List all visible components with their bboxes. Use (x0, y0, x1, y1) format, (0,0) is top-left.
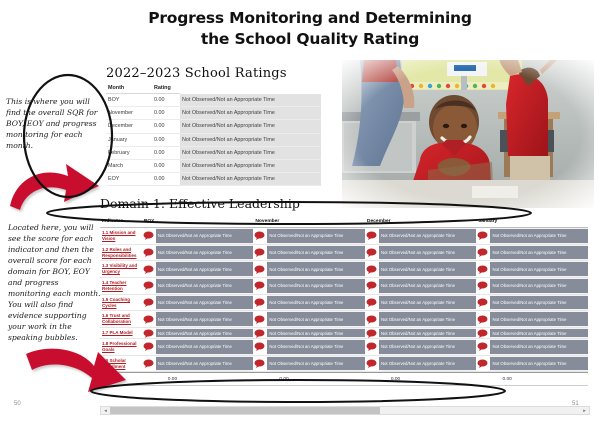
status-badge: Not Observed/Not an Appropriate Time (490, 245, 588, 261)
grid-header-period: November (253, 219, 365, 224)
title-line-1: Progress Monitoring and Determining (148, 9, 472, 27)
indicator-period-cell: Not Observed/Not an Appropriate Time (476, 278, 588, 294)
scroll-left-arrow-icon[interactable]: ◂ (101, 407, 110, 414)
speech-bubble-icon[interactable] (477, 265, 489, 274)
status-badge: Not Observed/Not an Appropriate Time (490, 295, 588, 311)
classroom-photo (342, 60, 594, 208)
page-number-left: 50 (14, 401, 21, 407)
status-badge-label: Not Observed/Not an Appropriate Time (158, 283, 232, 288)
status-badge-label: Not Observed/Not an Appropriate Time (381, 233, 455, 238)
indicator-link[interactable]: 1.7 PLA Model (100, 328, 142, 338)
table-row: December0.00Not Observed/Not an Appropri… (106, 120, 321, 133)
status-badge: Not Observed/Not an Appropriate Time (379, 311, 477, 327)
table-row: 1.9 Scholar EnrollmentNot Observed/Not a… (100, 356, 588, 373)
status-badge-label: Not Observed/Not an Appropriate Time (381, 344, 455, 349)
indicator-period-cell: Not Observed/Not an Appropriate Time (476, 339, 588, 355)
indicator-period-cell: Not Observed/Not an Appropriate Time (365, 311, 477, 327)
speech-bubble-icon[interactable] (143, 329, 155, 338)
status-badge: Not Observed/Not an Appropriate Time (267, 356, 365, 372)
speech-bubble-icon[interactable] (477, 315, 489, 324)
indicator-period-cell: Not Observed/Not an Appropriate Time (476, 356, 588, 372)
indicator-period-cell: Not Observed/Not an Appropriate Time (365, 278, 477, 294)
speech-bubble-icon[interactable] (366, 315, 378, 324)
indicator-period-cell: Not Observed/Not an Appropriate Time (142, 328, 254, 338)
indicator-period-cell: Not Observed/Not an Appropriate Time (142, 295, 254, 311)
indicator-link[interactable]: 1.2 Roles and Responsibilities (100, 245, 142, 261)
status-badge: Not Observed/Not an Appropriate Time (490, 356, 588, 372)
speech-bubble-icon[interactable] (143, 342, 155, 351)
table-row: 1.6 Trust and CollaborationNot Observed/… (100, 311, 588, 328)
ratings-cell-rating: 0.00 (152, 120, 180, 133)
status-badge: Not Observed/Not an Appropriate Time (267, 339, 365, 355)
table-row: 1.5 Coaching CyclesNot Observed/Not an A… (100, 295, 588, 312)
status-badge: Not Observed/Not an Appropriate Time (156, 228, 254, 244)
status-badge: Not Observed/Not an Appropriate Time (490, 328, 588, 338)
speech-bubble-icon[interactable] (254, 329, 266, 338)
status-badge: Not Observed/Not an Appropriate Time (490, 311, 588, 327)
ratings-cell-month: EOY (106, 173, 152, 186)
indicator-period-cell: Not Observed/Not an Appropriate Time (365, 356, 477, 372)
annotation-note-top: This is where you will find the overall … (6, 96, 102, 151)
scroll-right-arrow-icon[interactable]: ▸ (580, 407, 589, 414)
indicator-period-cell: Not Observed/Not an Appropriate Time (476, 328, 588, 338)
indicator-period-cell: Not Observed/Not an Appropriate Time (253, 356, 365, 372)
status-badge: Not Observed/Not an Appropriate Time (267, 311, 365, 327)
table-row: 1.8 Professional GoalsNot Observed/Not a… (100, 339, 588, 356)
status-badge: Not Observed/Not an Appropriate Time (267, 228, 365, 244)
speech-bubble-icon[interactable] (477, 359, 489, 368)
ratings-cell-status: Not Observed/Not an Appropriate Time (180, 159, 321, 172)
indicator-link[interactable]: 1.1 Mission and Vision (100, 228, 142, 244)
status-badge: Not Observed/Not an Appropriate Time (490, 278, 588, 294)
status-badge-label: Not Observed/Not an Appropriate Time (492, 267, 566, 272)
status-badge-label: Not Observed/Not an Appropriate Time (381, 250, 455, 255)
indicator-period-cell: Not Observed/Not an Appropriate Time (142, 245, 254, 261)
status-badge-label: Not Observed/Not an Appropriate Time (381, 300, 455, 305)
speech-bubble-icon[interactable] (366, 231, 378, 240)
speech-bubble-icon[interactable] (477, 298, 489, 307)
ratings-cell-status: Not Observed/Not an Appropriate Time (180, 107, 321, 120)
ratings-header-month: Month (106, 84, 152, 94)
status-badge-label: Not Observed/Not an Appropriate Time (269, 331, 343, 336)
status-badge-label: Not Observed/Not an Appropriate Time (158, 233, 232, 238)
table-row: March0.00Not Observed/Not an Appropriate… (106, 159, 321, 172)
status-badge: Not Observed/Not an Appropriate Time (156, 311, 254, 327)
school-ratings-table: Month Rating BOY0.00Not Observed/Not an … (106, 84, 321, 186)
status-badge: Not Observed/Not an Appropriate Time (267, 245, 365, 261)
status-badge-label: Not Observed/Not an Appropriate Time (158, 250, 232, 255)
indicator-grid-header-row: IndicatorBOYNovemberDecemberJanuary (100, 216, 588, 228)
page-title: Progress Monitoring and Determining the … (120, 8, 500, 50)
ratings-header-status (180, 84, 321, 94)
status-badge-label: Not Observed/Not an Appropriate Time (158, 317, 232, 322)
status-badge-label: Not Observed/Not an Appropriate Time (381, 331, 455, 336)
indicator-period-cell: Not Observed/Not an Appropriate Time (476, 228, 588, 244)
indicator-period-cell: Not Observed/Not an Appropriate Time (476, 245, 588, 261)
speech-bubble-icon[interactable] (477, 231, 489, 240)
status-badge-label: Not Observed/Not an Appropriate Time (269, 317, 343, 322)
indicator-period-cell: Not Observed/Not an Appropriate Time (253, 339, 365, 355)
status-badge-label: Not Observed/Not an Appropriate Time (269, 300, 343, 305)
ratings-header-row: Month Rating (106, 84, 321, 94)
status-badge-label: Not Observed/Not an Appropriate Time (492, 283, 566, 288)
slide-canvas: Progress Monitoring and Determining the … (0, 0, 600, 424)
ratings-cell-status: Not Observed/Not an Appropriate Time (180, 146, 321, 159)
status-badge-label: Not Observed/Not an Appropriate Time (492, 331, 566, 336)
speech-bubble-icon[interactable] (254, 298, 266, 307)
speech-bubble-icon[interactable] (477, 281, 489, 290)
speech-bubble-icon[interactable] (143, 359, 155, 368)
ratings-cell-rating: 0.00 (152, 146, 180, 159)
rating-row-value: 0.00 (365, 377, 477, 382)
table-row: EOY0.00Not Observed/Not an Appropriate T… (106, 173, 321, 186)
speech-bubble-icon[interactable] (254, 231, 266, 240)
status-badge-label: Not Observed/Not an Appropriate Time (381, 317, 455, 322)
status-badge-label: Not Observed/Not an Appropriate Time (492, 361, 566, 366)
status-badge-label: Not Observed/Not an Appropriate Time (381, 361, 455, 366)
status-badge-label: Not Observed/Not an Appropriate Time (492, 317, 566, 322)
status-badge: Not Observed/Not an Appropriate Time (490, 339, 588, 355)
status-badge-label: Not Observed/Not an Appropriate Time (158, 331, 232, 336)
status-badge: Not Observed/Not an Appropriate Time (379, 261, 477, 277)
indicator-link[interactable]: 1.3 Visibility and Urgency (100, 261, 142, 277)
status-badge-label: Not Observed/Not an Appropriate Time (381, 267, 455, 272)
table-row: November0.00Not Observed/Not an Appropri… (106, 107, 321, 120)
page-number-right: 51 (572, 401, 579, 407)
indicator-link[interactable]: 1.6 Trust and Collaboration (100, 311, 142, 327)
indicator-link[interactable]: 1.4 Teacher Retention (100, 278, 142, 294)
status-badge: Not Observed/Not an Appropriate Time (379, 328, 477, 338)
speech-bubble-icon[interactable] (477, 329, 489, 338)
indicator-period-cell: Not Observed/Not an Appropriate Time (365, 328, 477, 338)
speech-bubble-icon[interactable] (477, 342, 489, 351)
domain-rating-row: Rating0.000.000.000.00 (100, 372, 588, 386)
status-badge-label: Not Observed/Not an Appropriate Time (269, 267, 343, 272)
red-curved-arrow-icon-bottom (24, 340, 128, 400)
ratings-cell-rating: 0.00 (152, 133, 180, 146)
status-badge-label: Not Observed/Not an Appropriate Time (269, 233, 343, 238)
speech-bubble-icon[interactable] (366, 298, 378, 307)
table-row: 1.2 Roles and ResponsibilitiesNot Observ… (100, 245, 588, 262)
ratings-cell-month: December (106, 120, 152, 133)
indicator-period-cell: Not Observed/Not an Appropriate Time (253, 295, 365, 311)
grid-header-period: December (365, 219, 477, 224)
status-badge-label: Not Observed/Not an Appropriate Time (492, 233, 566, 238)
indicator-period-cell: Not Observed/Not an Appropriate Time (365, 228, 477, 244)
table-row: 1.3 Visibility and UrgencyNot Observed/N… (100, 261, 588, 278)
speech-bubble-icon[interactable] (143, 248, 155, 257)
indicator-period-cell: Not Observed/Not an Appropriate Time (253, 245, 365, 261)
status-badge: Not Observed/Not an Appropriate Time (156, 356, 254, 372)
rating-row-value: 0.00 (253, 377, 365, 382)
ratings-cell-status: Not Observed/Not an Appropriate Time (180, 94, 321, 107)
annotation-note-bottom: Located here, you will see the score for… (8, 222, 103, 343)
indicator-period-cell: Not Observed/Not an Appropriate Time (142, 261, 254, 277)
indicator-period-cell: Not Observed/Not an Appropriate Time (476, 311, 588, 327)
speech-bubble-icon[interactable] (366, 329, 378, 338)
horizontal-scrollbar[interactable]: ◂ ▸ (100, 406, 590, 415)
table-row: 1.4 Teacher RetentionNot Observed/Not an… (100, 278, 588, 295)
table-row: 1.1 Mission and VisionNot Observed/Not a… (100, 228, 588, 245)
speech-bubble-icon[interactable] (254, 342, 266, 351)
status-badge: Not Observed/Not an Appropriate Time (267, 261, 365, 277)
status-badge-label: Not Observed/Not an Appropriate Time (158, 344, 232, 349)
status-badge-label: Not Observed/Not an Appropriate Time (269, 250, 343, 255)
speech-bubble-icon[interactable] (254, 315, 266, 324)
ratings-cell-status: Not Observed/Not an Appropriate Time (180, 133, 321, 146)
speech-bubble-icon[interactable] (143, 265, 155, 274)
status-badge: Not Observed/Not an Appropriate Time (490, 228, 588, 244)
status-badge: Not Observed/Not an Appropriate Time (156, 339, 254, 355)
ratings-table-heading: 2022–2023 School Ratings (106, 66, 287, 81)
ratings-cell-status: Not Observed/Not an Appropriate Time (180, 120, 321, 133)
ratings-cell-month: November (106, 107, 152, 120)
red-curved-arrow-icon-top (4, 158, 104, 214)
speech-bubble-icon[interactable] (254, 248, 266, 257)
status-badge: Not Observed/Not an Appropriate Time (379, 295, 477, 311)
indicator-period-cell: Not Observed/Not an Appropriate Time (365, 261, 477, 277)
speech-bubble-icon[interactable] (143, 298, 155, 307)
ratings-table-body: BOY0.00Not Observed/Not an Appropriate T… (106, 94, 321, 186)
speech-bubble-icon[interactable] (143, 231, 155, 240)
status-badge: Not Observed/Not an Appropriate Time (156, 261, 254, 277)
grid-header-period: BOY (142, 219, 254, 224)
ratings-cell-month: February (106, 146, 152, 159)
indicator-period-cell: Not Observed/Not an Appropriate Time (142, 356, 254, 372)
indicator-link[interactable]: 1.5 Coaching Cycles (100, 295, 142, 311)
table-row: 1.7 PLA ModelNot Observed/Not an Appropr… (100, 328, 588, 339)
indicator-period-cell: Not Observed/Not an Appropriate Time (253, 328, 365, 338)
ratings-cell-status: Not Observed/Not an Appropriate Time (180, 173, 321, 186)
status-badge-label: Not Observed/Not an Appropriate Time (158, 300, 232, 305)
indicator-period-cell: Not Observed/Not an Appropriate Time (365, 295, 477, 311)
speech-bubble-icon[interactable] (143, 281, 155, 290)
status-badge: Not Observed/Not an Appropriate Time (379, 339, 477, 355)
rating-row-value: 0.00 (142, 377, 254, 382)
indicator-period-cell: Not Observed/Not an Appropriate Time (365, 339, 477, 355)
grid-header-indicator: Indicator (100, 219, 142, 224)
status-badge-label: Not Observed/Not an Appropriate Time (381, 283, 455, 288)
indicator-period-cell: Not Observed/Not an Appropriate Time (253, 311, 365, 327)
speech-bubble-icon[interactable] (366, 342, 378, 351)
status-badge-label: Not Observed/Not an Appropriate Time (492, 344, 566, 349)
indicator-period-cell: Not Observed/Not an Appropriate Time (253, 278, 365, 294)
indicator-period-cell: Not Observed/Not an Appropriate Time (476, 261, 588, 277)
status-badge-label: Not Observed/Not an Appropriate Time (492, 250, 566, 255)
speech-bubble-icon[interactable] (254, 281, 266, 290)
status-badge: Not Observed/Not an Appropriate Time (379, 356, 477, 372)
indicator-period-cell: Not Observed/Not an Appropriate Time (253, 228, 365, 244)
ratings-header-rating: Rating (152, 84, 180, 94)
status-badge: Not Observed/Not an Appropriate Time (156, 295, 254, 311)
speech-bubble-icon[interactable] (366, 359, 378, 368)
title-line-2: the School Quality Rating (120, 29, 500, 50)
ratings-cell-rating: 0.00 (152, 173, 180, 186)
indicator-period-cell: Not Observed/Not an Appropriate Time (253, 261, 365, 277)
speech-bubble-icon[interactable] (477, 248, 489, 257)
ratings-cell-month: January (106, 133, 152, 146)
ratings-table-head: Month Rating (106, 84, 321, 94)
ratings-cell-rating: 0.00 (152, 159, 180, 172)
table-row: BOY0.00Not Observed/Not an Appropriate T… (106, 94, 321, 107)
status-badge: Not Observed/Not an Appropriate Time (267, 278, 365, 294)
table-row: January0.00Not Observed/Not an Appropria… (106, 133, 321, 146)
indicator-period-cell: Not Observed/Not an Appropriate Time (142, 278, 254, 294)
status-badge: Not Observed/Not an Appropriate Time (156, 245, 254, 261)
domain-heading: Domain 1: Effective Leadership (100, 196, 300, 211)
rating-row-value: 0.00 (476, 377, 588, 382)
ratings-cell-month: BOY (106, 94, 152, 107)
speech-bubble-icon[interactable] (366, 281, 378, 290)
status-badge-label: Not Observed/Not an Appropriate Time (269, 361, 343, 366)
indicator-period-cell: Not Observed/Not an Appropriate Time (142, 228, 254, 244)
indicator-grid-body: 1.1 Mission and VisionNot Observed/Not a… (100, 228, 588, 372)
status-badge-label: Not Observed/Not an Appropriate Time (492, 300, 566, 305)
scrollbar-thumb[interactable] (110, 407, 380, 414)
status-badge: Not Observed/Not an Appropriate Time (267, 295, 365, 311)
speech-bubble-icon[interactable] (254, 265, 266, 274)
speech-bubble-icon[interactable] (366, 265, 378, 274)
status-badge-label: Not Observed/Not an Appropriate Time (158, 361, 232, 366)
indicator-period-cell: Not Observed/Not an Appropriate Time (476, 295, 588, 311)
status-badge: Not Observed/Not an Appropriate Time (267, 328, 365, 338)
speech-bubble-icon[interactable] (366, 248, 378, 257)
status-badge: Not Observed/Not an Appropriate Time (379, 245, 477, 261)
status-badge-label: Not Observed/Not an Appropriate Time (269, 344, 343, 349)
ratings-cell-month: March (106, 159, 152, 172)
grid-header-period: January (476, 219, 588, 224)
speech-bubble-icon[interactable] (254, 359, 266, 368)
table-row: February0.00Not Observed/Not an Appropri… (106, 146, 321, 159)
indicator-grid: IndicatorBOYNovemberDecemberJanuary 1.1 … (100, 216, 588, 401)
status-badge: Not Observed/Not an Appropriate Time (379, 228, 477, 244)
status-badge: Not Observed/Not an Appropriate Time (156, 328, 254, 338)
indicator-period-cell: Not Observed/Not an Appropriate Time (142, 339, 254, 355)
indicator-period-cell: Not Observed/Not an Appropriate Time (142, 311, 254, 327)
status-badge: Not Observed/Not an Appropriate Time (156, 278, 254, 294)
status-badge-label: Not Observed/Not an Appropriate Time (269, 283, 343, 288)
status-badge: Not Observed/Not an Appropriate Time (490, 261, 588, 277)
ratings-cell-rating: 0.00 (152, 107, 180, 120)
ratings-cell-rating: 0.00 (152, 94, 180, 107)
speech-bubble-icon[interactable] (143, 315, 155, 324)
indicator-period-cell: Not Observed/Not an Appropriate Time (365, 245, 477, 261)
status-badge-label: Not Observed/Not an Appropriate Time (158, 267, 232, 272)
status-badge: Not Observed/Not an Appropriate Time (379, 278, 477, 294)
